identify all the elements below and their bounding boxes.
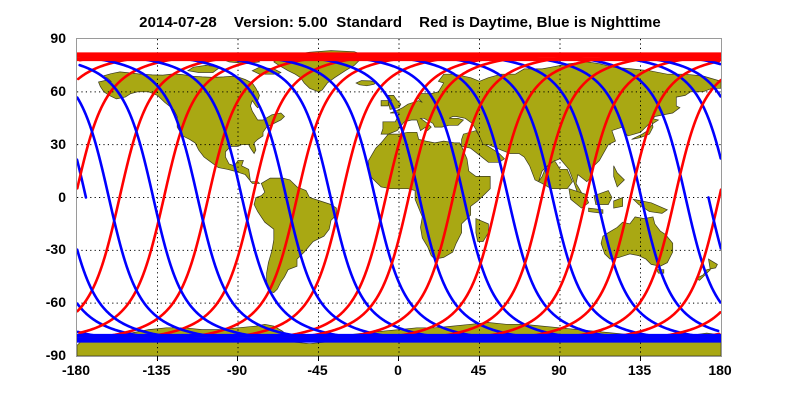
- x-axis-tick-label-6: 90: [551, 362, 567, 378]
- x-axis-tick-label-8: 180: [708, 362, 731, 378]
- x-axis-tick-label-1: -135: [142, 362, 170, 378]
- x-axis-tick-mark-5: [479, 356, 480, 361]
- landmass: [381, 101, 388, 106]
- map-plot-area: [76, 38, 722, 357]
- x-axis-tick-mark-7: [640, 356, 641, 361]
- nighttime-ground-track: [109, 198, 281, 341]
- figure-title: 2014-07-28 Version: 5.00 Standard Red is…: [0, 14, 800, 31]
- x-axis-tick-label-2: -90: [227, 362, 247, 378]
- nighttime-ground-track: [708, 198, 720, 249]
- landmass: [614, 166, 625, 187]
- x-axis-tick-label-0: -180: [62, 362, 90, 378]
- y-axis-tick-label-1: 60: [0, 83, 66, 99]
- y-axis-tick-label-5: -60: [0, 294, 66, 310]
- y-axis-tick-label-3: 0: [0, 189, 66, 205]
- y-axis-tick-label-4: -30: [0, 241, 66, 257]
- ground-track-map-figure: 2014-07-28 Version: 5.00 Standard Red is…: [0, 0, 800, 400]
- x-axis-tick-mark-3: [318, 356, 319, 361]
- x-axis-tick-label-5: 45: [471, 362, 487, 378]
- landmass: [614, 198, 623, 209]
- x-axis-tick-mark-4: [398, 356, 399, 361]
- landmass: [633, 199, 667, 213]
- x-axis-tick-mark-1: [157, 356, 158, 361]
- landmass: [356, 81, 376, 86]
- x-axis-tick-mark-6: [559, 356, 560, 361]
- y-axis-tick-label-2: 30: [0, 136, 66, 152]
- x-axis-tick-label-4: 0: [394, 362, 402, 378]
- daytime-ground-track: [547, 190, 721, 341]
- x-axis-tick-label-7: 135: [628, 362, 651, 378]
- x-axis-tick-mark-2: [237, 356, 238, 361]
- map-canvas: [77, 39, 721, 356]
- y-axis-tick-label-6: -90: [0, 347, 66, 363]
- x-axis-tick-label-3: -45: [307, 362, 327, 378]
- y-axis-tick-label-0: 90: [0, 30, 66, 46]
